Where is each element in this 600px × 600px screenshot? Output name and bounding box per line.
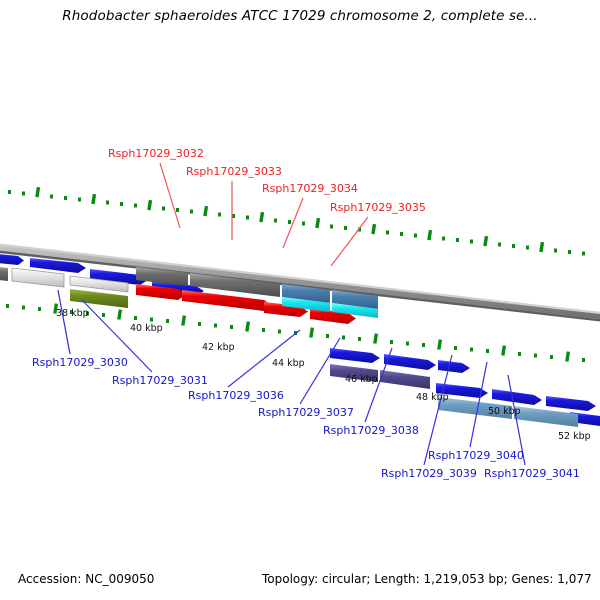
scale-tick-42kbp: 42 kbp [202, 342, 235, 353]
topology-text: Topology: circular; Length: 1,219,053 bp… [262, 572, 592, 586]
gene-label-3032[interactable]: Rsph17029_3032 [108, 148, 204, 159]
gene-bar[interactable] [70, 289, 128, 308]
label-leader-lines-top [160, 163, 368, 266]
gene-label-3039[interactable]: Rsph17029_3039 [381, 468, 477, 479]
gene-arrow[interactable] [492, 389, 542, 405]
scale-tick-46kbp: 46 kbp [345, 374, 378, 385]
gene-bar[interactable] [0, 266, 8, 281]
gene-arrow[interactable] [438, 360, 470, 373]
gene-arrow[interactable] [546, 396, 596, 411]
status-bar: Accession: NC_009050 Topology: circular;… [0, 572, 600, 592]
scale-ticks-upper [8, 187, 585, 256]
scale-tick-52kbp: 52 kbp [558, 431, 591, 442]
gene-label-3037[interactable]: Rsph17029_3037 [258, 407, 354, 418]
scale-tick-48kbp: 48 kbp [416, 392, 449, 403]
accession-text: Accession: NC_009050 [18, 572, 154, 586]
gene-label-3034[interactable]: Rsph17029_3034 [262, 183, 358, 194]
gene-arrow[interactable] [330, 348, 380, 363]
scale-tick-44kbp: 44 kbp [272, 358, 305, 369]
gene-bar[interactable] [514, 406, 578, 427]
gene-label-3031[interactable]: Rsph17029_3031 [112, 375, 208, 386]
gene-label-3041[interactable]: Rsph17029_3041 [484, 468, 580, 479]
scale-tick-38kbp: 38 kbp [56, 308, 89, 319]
gene-label-3035[interactable]: Rsph17029_3035 [330, 202, 426, 213]
scale-tick-40kbp: 40 kbp [130, 323, 163, 334]
gene-arrow[interactable] [384, 354, 436, 370]
scale-tick-50kbp: 50 kbp [488, 406, 521, 417]
gene-label-3040[interactable]: Rsph17029_3040 [428, 450, 524, 461]
gene-bar[interactable] [380, 370, 430, 389]
genome-map-viewer: Rhodobacter sphaeroides ATCC 17029 chrom… [0, 0, 600, 600]
gene-label-3036[interactable]: Rsph17029_3036 [188, 390, 284, 401]
gene-label-3030[interactable]: Rsph17029_3030 [32, 357, 128, 368]
gene-label-3038[interactable]: Rsph17029_3038 [323, 425, 419, 436]
page-title: Rhodobacter sphaeroides ATCC 17029 chrom… [0, 8, 600, 24]
gene-bar[interactable] [12, 268, 64, 287]
gene-label-3033[interactable]: Rsph17029_3033 [186, 166, 282, 177]
